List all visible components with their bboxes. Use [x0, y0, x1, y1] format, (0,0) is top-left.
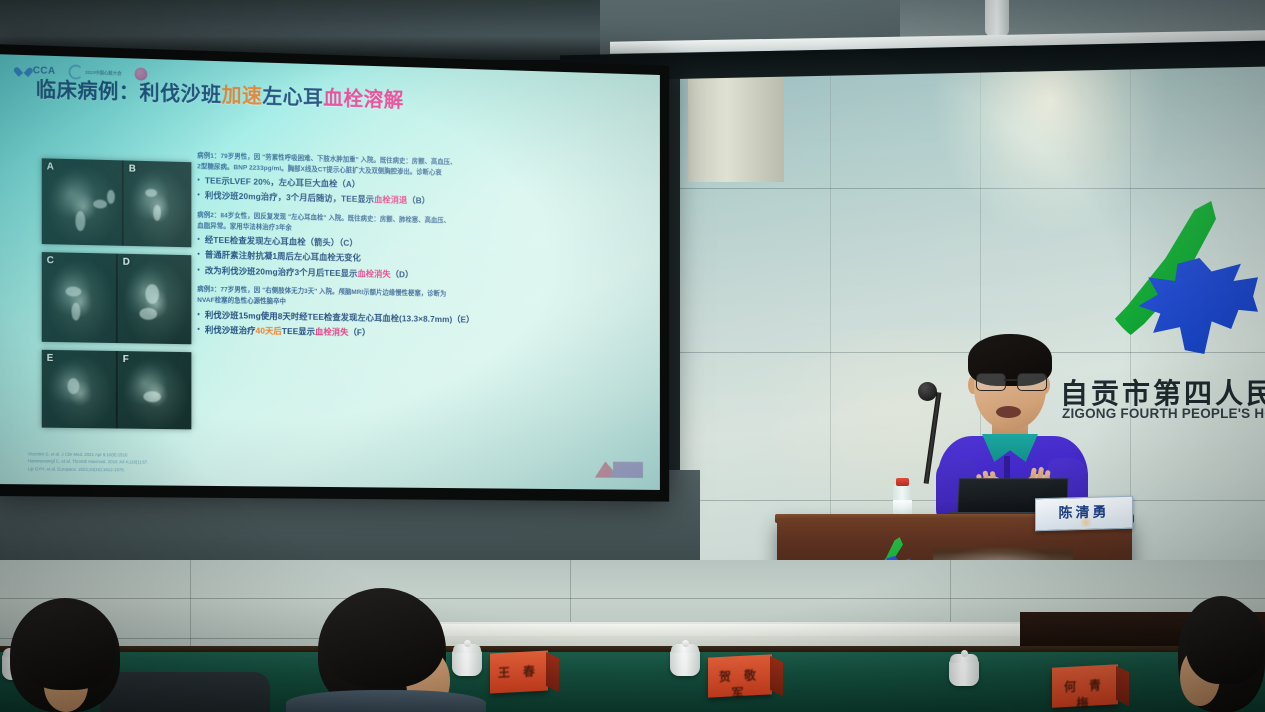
bullet-dot-icon: • [197, 176, 200, 186]
slide-references: Vicentini S, et al. J Clin Med. 2021 Apr… [28, 450, 149, 474]
speaker-glasses [975, 373, 1047, 390]
case-2-bullet-3-tail: （D） [391, 269, 414, 279]
audience-hair-2 [322, 592, 444, 688]
case-2-bullet-3-text: 改为利伐沙班20mg治疗3个月后TEE显示血栓消失（D） [205, 265, 414, 281]
case-1-bullet-2-text: 利伐沙班20mg治疗，3个月后随访，TEE显示血栓消退（B） [205, 191, 430, 208]
slide-title-accent-pink: 血栓溶解 [323, 87, 404, 112]
teacup-knob [464, 640, 471, 647]
case-1-bullet-2-main: 利伐沙班20mg治疗，3个月后随访，TEE显示 [205, 191, 374, 205]
slide-title-part3: 左心耳 [262, 85, 323, 109]
bullet-dot-icon: • [197, 309, 200, 319]
case-1-bullet-2-tail: （B） [407, 196, 430, 206]
echo-image-row-ef: E F [42, 350, 192, 430]
sponsor-logo [595, 461, 644, 478]
audience-hair-3 [1186, 600, 1265, 684]
bullet-dot-icon: • [197, 250, 200, 260]
echo-label-b: B [129, 164, 136, 175]
echo-image-f: F [118, 351, 192, 429]
echo-label-f: F [123, 354, 129, 365]
projection-screen-surface: CCA 2023中国心脏大会 临床病例：利伐沙班加速左心耳血栓溶解 A [0, 54, 660, 490]
table-name-card: 王 春 [490, 652, 548, 692]
case-1-bullet-2-highlight: 血栓消退 [374, 195, 407, 206]
table-name-card: 贺 敬 军 [708, 656, 772, 696]
teacup [947, 650, 981, 688]
case-2-bullets: • 经TEE检查发现左心耳血栓（箭头）（C） • 普通肝素注射抗凝1周后左心耳血… [197, 235, 639, 285]
bullet-dot-icon: • [197, 324, 200, 334]
teacup [668, 640, 702, 678]
ceiling-duct [985, 0, 1009, 36]
name-card-text: 王 春 [490, 661, 548, 681]
bullet-dot-icon: • [197, 265, 200, 275]
table-name-card: 何 青 梅 [1052, 666, 1118, 706]
teacup-body [452, 650, 482, 676]
glasses-lens-right [1017, 373, 1047, 391]
wall-pillar [688, 62, 784, 182]
conference-room-photo: 自贡市第四人民医院 ZIGONG FOURTH PEOPLE'S HOSPITA… [0, 0, 1265, 712]
case-3-bullet-2-main: 利伐沙班治疗 [205, 324, 256, 335]
audience-hair-1 [18, 604, 116, 690]
wall-seam-h1 [680, 188, 1265, 189]
case-2-bullet-3-highlight: 血栓消失 [357, 268, 390, 278]
case-2-bullet-2-text: 普通肝素注射抗凝1周后左心耳血栓无变化 [205, 250, 361, 265]
name-card-text: 贺 敬 军 [708, 665, 772, 702]
case-3-bullet-2-tail: （F） [349, 327, 371, 337]
echo-label-e: E [47, 353, 54, 364]
case-3-bullet-2-highlight: 血栓消失 [315, 326, 348, 336]
teacup-knob [961, 650, 968, 657]
slide-title-accent-orange: 加速 [222, 84, 263, 108]
echo-label-c: C [47, 255, 54, 266]
water-bottle-label [893, 500, 912, 514]
case-2-block: 病例2：84岁女性，因反复发现 "左心耳血栓" 入院。既往病史：房颤、肺栓塞、高… [197, 211, 639, 285]
case-1-block: 病例1：79岁男性，因 "劳累性呼吸困难、下肢水肿加重" 入院。既往病史：房颤、… [197, 151, 639, 212]
case-3-bullet-2-mid: TEE显示 [282, 326, 315, 336]
speaker-mouth [996, 406, 1021, 418]
echo-label-d: D [123, 257, 130, 268]
echo-image-e: E [42, 350, 116, 429]
projection-screen: CCA 2023中国心脏大会 临床病例：利伐沙班加速左心耳血栓溶解 A [0, 44, 669, 502]
name-card-text: 何 青 梅 [1052, 675, 1118, 712]
case-3-bullet-2-orange: 40天后 [256, 325, 282, 335]
teacup [450, 640, 484, 678]
nameplate-reflection [1078, 518, 1094, 527]
case-3-bullet-2-text: 利伐沙班治疗40天后TEE显示血栓消失（F） [205, 324, 371, 338]
echo-label-a: A [47, 161, 54, 172]
echo-image-b: B [124, 160, 192, 247]
teacup-knob [682, 640, 689, 647]
slide-text-column: 病例1：79岁男性，因 "劳累性呼吸困难、下肢水肿加重" 入院。既往病史：房颤、… [197, 151, 639, 351]
reference-3: Lip GYH, et al. Europace. 2021;23(10):16… [28, 465, 149, 474]
bullet-dot-icon: • [197, 235, 200, 245]
echo-image-d: D [118, 254, 192, 345]
slide-title-part1: 临床病例：利伐沙班 [36, 78, 222, 106]
echo-image-c: C [42, 252, 116, 343]
audience-shoulder-2 [286, 690, 486, 712]
case-3-bullets: • 利伐沙班15mg使用8天时经TEE检查发现左心耳血栓(13.3×8.7mm)… [197, 309, 639, 343]
speaker-nameplate: 陈清勇 [1035, 496, 1133, 532]
sponsor-mark-icon [595, 461, 644, 478]
bullet-dot-icon: • [197, 190, 200, 200]
hospital-logo [1088, 196, 1258, 354]
echocardiogram-panel-column: A B C [42, 158, 192, 437]
gooseneck-mic-head-icon [918, 382, 937, 401]
slide-title: 临床病例：利伐沙班加速左心耳血栓溶解 [36, 72, 404, 113]
case-2-bullet-1-text: 经TEE检查发现左心耳血栓（箭头）（C） [205, 235, 358, 250]
audience-chair-1 [100, 672, 270, 712]
teacup-body [670, 650, 700, 676]
water-bottle-cap [896, 478, 909, 486]
case-1-bullet-1-text: TEE示LVEF 20%，左心耳巨大血栓（A） [205, 176, 360, 191]
glasses-lens-left [976, 373, 1006, 391]
heart-icon [18, 65, 30, 76]
lower-wall-vseam-1 [190, 560, 191, 660]
glasses-bridge [1004, 379, 1018, 381]
teacup-body [949, 660, 979, 686]
case-2-bullet-3-main: 改为利伐沙班20mg治疗3个月后TEE显示 [205, 265, 358, 278]
echo-image-row-ab: A B [42, 158, 192, 247]
case-3-block: 病例3：77岁男性，因 "右侧肢体无力3天" 入院。颅脑MRI示额片边缘慢性梗塞… [197, 285, 639, 343]
case-3-bullet-1-text: 利伐沙班15mg使用8天时经TEE检查发现左心耳血栓(13.3×8.7mm)（E… [205, 309, 474, 325]
echo-image-a: A [42, 158, 122, 246]
presentation-slide: CCA 2023中国心脏大会 临床病例：利伐沙班加速左心耳血栓溶解 A [0, 54, 660, 490]
echo-image-row-cd: C D [42, 252, 192, 344]
